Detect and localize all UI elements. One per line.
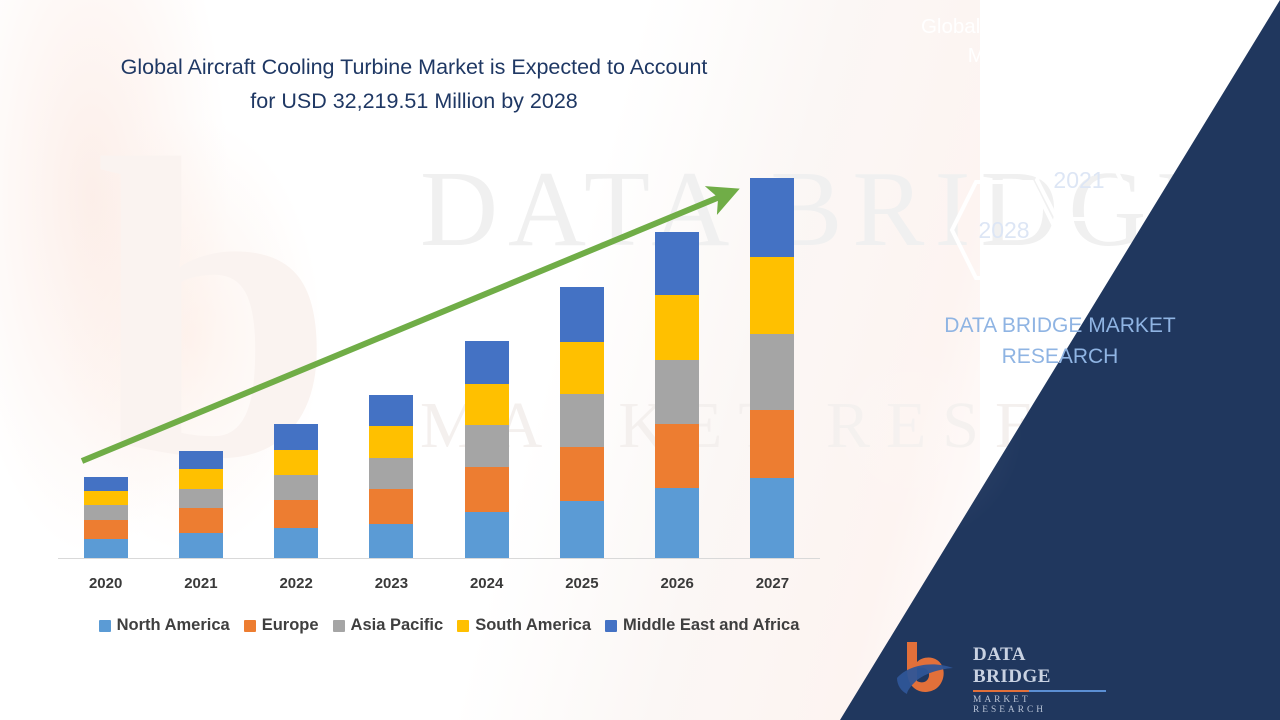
logo-name-primary: DATA BRIDGE <box>973 644 1108 688</box>
legend-swatch-icon <box>244 620 256 632</box>
bar-segment <box>750 478 794 558</box>
bar-segment <box>465 384 509 426</box>
logo-text: DATA BRIDGE MARKET RESEARCH <box>973 644 1108 715</box>
bar-segment <box>179 451 223 469</box>
bar-segment <box>274 450 318 476</box>
x-axis-label: 2022 <box>256 575 336 592</box>
bar-segment <box>465 512 509 558</box>
logo-name-secondary: MARKET RESEARCH <box>973 695 1108 715</box>
company-logo: DATA BRIDGE MARKET RESEARCH <box>895 638 1105 702</box>
bar-segment <box>369 489 413 525</box>
x-axis-label: 2023 <box>351 575 431 592</box>
bar-segment <box>179 508 223 532</box>
bar-segment <box>465 425 509 467</box>
bar-group-2023 <box>369 395 413 558</box>
legend-item[interactable]: North America <box>99 616 230 635</box>
legend-item[interactable]: Asia Pacific <box>333 616 444 635</box>
x-axis-label: 2026 <box>637 575 717 592</box>
legend-item[interactable]: South America <box>457 616 591 635</box>
x-axis-line <box>58 558 820 559</box>
bar-segment <box>274 475 318 499</box>
hexagon-label-2028: 2028 <box>978 217 1029 244</box>
infographic-canvas: b DATA BRIDGE MARKET RESEARCH Global Air… <box>0 0 1280 720</box>
legend-label: North America <box>117 616 230 635</box>
legend-swatch-icon <box>99 620 111 632</box>
data-bridge-logo-icon <box>895 638 967 700</box>
bar-segment <box>84 491 128 505</box>
bar-segment <box>655 295 699 360</box>
bar-segment <box>560 501 604 558</box>
bar-group-2027 <box>750 178 794 558</box>
bar-group-2020 <box>84 477 128 558</box>
chart-legend: North AmericaEuropeAsia PacificSouth Ame… <box>54 616 844 635</box>
legend-label: South America <box>475 616 591 635</box>
bar-segment <box>369 426 413 458</box>
bar-segment <box>560 394 604 447</box>
hexagon-outline-icon <box>1033 137 1125 223</box>
bar-segment <box>84 477 128 490</box>
legend-swatch-icon <box>333 620 345 632</box>
bar-segment <box>465 467 509 512</box>
bar-segment <box>560 447 604 501</box>
x-axis-label: 2021 <box>161 575 241 592</box>
bar-segment <box>750 257 794 334</box>
bar-segment <box>655 232 699 295</box>
bar-segment <box>369 458 413 489</box>
bar-segment <box>655 360 699 424</box>
bar-segment <box>560 342 604 394</box>
legend-label: Asia Pacific <box>351 616 444 635</box>
legend-item[interactable]: Middle East and Africa <box>605 616 799 635</box>
x-axis-label: 2020 <box>66 575 146 592</box>
bar-group-2025 <box>560 287 604 558</box>
bar-segment <box>84 505 128 520</box>
bar-group-2022 <box>274 424 318 558</box>
bar-segment <box>179 469 223 488</box>
bar-segment <box>84 539 128 558</box>
legend-swatch-icon <box>457 620 469 632</box>
stacked-bar-chart <box>58 150 820 558</box>
bar-group-2024 <box>465 341 509 558</box>
bar-segment <box>274 528 318 558</box>
chart-title-line-2: for USD 32,219.51 Million by 2028 <box>64 84 764 118</box>
bar-segment <box>84 520 128 538</box>
logo-divider <box>973 690 1106 692</box>
x-axis-label: 2027 <box>732 575 812 592</box>
legend-label: Middle East and Africa <box>623 616 799 635</box>
chart-title: Global Aircraft Cooling Turbine Market i… <box>64 50 764 118</box>
hexagon-badge-2021: 2021 <box>1033 137 1125 223</box>
bar-segment <box>369 395 413 427</box>
x-axis-labels: 20202021202220232024202520262027 <box>58 575 820 599</box>
bar-segment <box>465 341 509 384</box>
bar-segment <box>750 410 794 478</box>
legend-label: Europe <box>262 616 319 635</box>
bar-segment <box>750 334 794 411</box>
chart-title-line-1: Global Aircraft Cooling Turbine Market i… <box>64 50 764 84</box>
bar-segment <box>369 524 413 558</box>
bar-segment <box>274 424 318 450</box>
bar-group-2021 <box>179 451 223 558</box>
bar-segment <box>655 488 699 558</box>
bar-segment <box>274 500 318 529</box>
legend-swatch-icon <box>605 620 617 632</box>
bar-group-2026 <box>655 232 699 558</box>
x-axis-label: 2024 <box>447 575 527 592</box>
bar-segment <box>750 178 794 258</box>
hexagon-label-2021: 2021 <box>1053 167 1104 194</box>
bar-segment <box>179 489 223 508</box>
legend-item[interactable]: Europe <box>244 616 319 635</box>
bar-segment <box>655 424 699 487</box>
bar-segment <box>560 287 604 342</box>
bar-segment <box>179 533 223 559</box>
x-axis-label: 2025 <box>542 575 622 592</box>
